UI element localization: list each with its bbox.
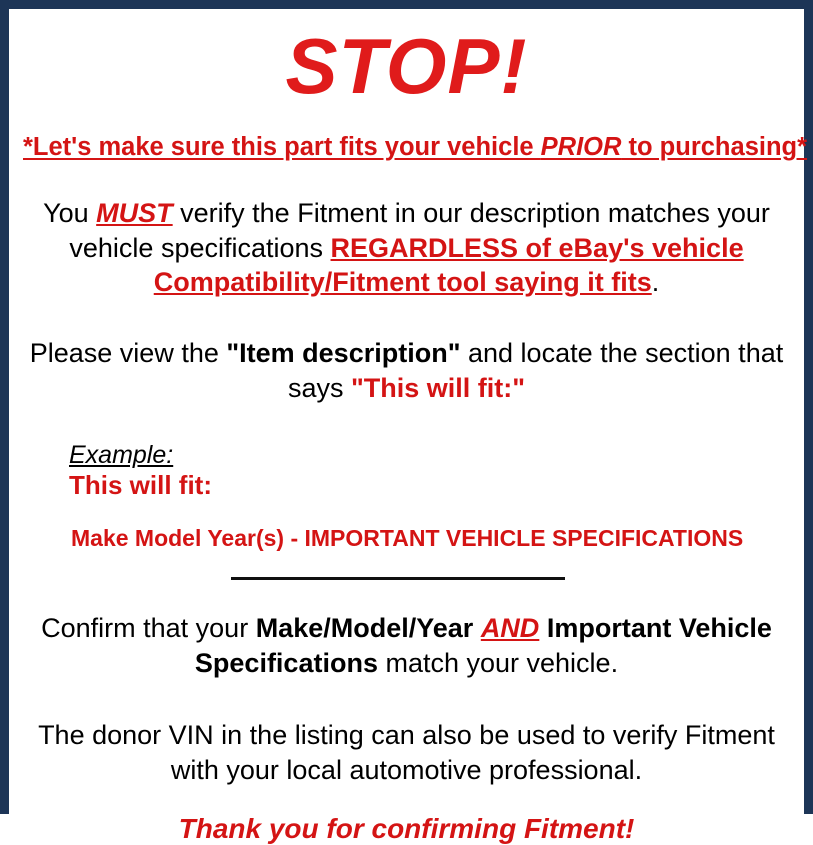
must-seg1: You [43, 198, 96, 228]
subtitle-emphasis-prior: PRIOR [541, 133, 622, 161]
subtitle-banner: *Let's make sure this part fits your veh… [23, 133, 790, 162]
must-verify-paragraph: You MUST verify the Fitment in our descr… [23, 196, 790, 300]
this-will-fit-quote: "This will fit:" [351, 373, 525, 403]
confirm-seg2: match your vehicle. [378, 648, 618, 678]
make-model-year-emphasis: Make/Model/Year [256, 613, 474, 643]
item-description-emphasis: "Item description" [226, 338, 460, 368]
and-emphasis: AND [481, 613, 540, 643]
confirm-paragraph: Confirm that your Make/Model/Year AND Im… [23, 611, 790, 680]
confirm-seg1: Confirm that your [41, 613, 256, 643]
confirm-space-1 [473, 613, 481, 643]
notice-inner-panel: STOP! *Let's make sure this part fits yo… [9, 27, 804, 823]
fitment-notice-card: STOP! *Let's make sure this part fits yo… [0, 0, 813, 814]
subtitle-prefix: *Let's make sure this part fits your veh… [23, 133, 541, 161]
subtitle-suffix: to purchasing* [621, 133, 807, 161]
example-block: Example: This will fit: Make Model Year(… [23, 441, 790, 551]
thank-you-line: Thank you for confirming Fitment! [23, 812, 790, 845]
example-fit-heading: This will fit: [69, 471, 790, 501]
must-seg3: . [652, 267, 660, 297]
donor-vin-paragraph: The donor VIN in the listing can also be… [23, 718, 790, 787]
example-label: Example: [69, 441, 173, 469]
example-spec-line: Make Model Year(s) - IMPORTANT VEHICLE S… [69, 525, 790, 551]
confirm-space-2 [539, 613, 547, 643]
divider-wrapper [23, 577, 790, 581]
stop-headline: STOP! [23, 27, 790, 105]
view-description-paragraph: Please view the "Item description" and l… [23, 336, 790, 405]
must-emphasis: MUST [96, 198, 173, 228]
section-divider [231, 577, 565, 580]
view-seg1: Please view the [30, 338, 227, 368]
example-label-row: Example: [69, 441, 790, 469]
